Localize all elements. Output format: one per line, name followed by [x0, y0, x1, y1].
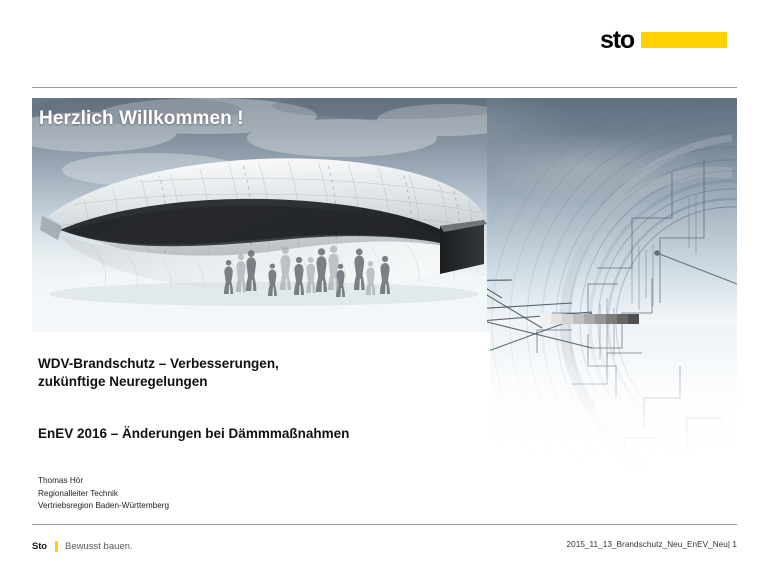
footer-brand: Sto: [32, 541, 47, 552]
footer-document-id: 2015_11_13_Brandschutz_Neu_EnEV_Neu| 1: [567, 540, 737, 549]
headline-line-2: zukünftige Neuregelungen: [38, 374, 208, 389]
author-block: Thomas Hör Regionalleiter Technik Vertri…: [38, 443, 478, 512]
sto-logo-bar: [641, 32, 727, 48]
author-name: Thomas Hör: [38, 476, 83, 485]
page-title: WDV-Brandschutz – Verbesserungen, zukünf…: [38, 355, 478, 391]
author-region: Vertriebsregion Baden-Württemberg: [38, 501, 169, 510]
pavilion-rendering-image: [32, 98, 487, 332]
gradient-swatch-bar: [540, 314, 639, 324]
welcome-heading: Herzlich Willkommen !: [39, 108, 244, 130]
header-divider: [32, 87, 737, 88]
sto-logo: sto: [600, 27, 740, 53]
headline-line-1: WDV-Brandschutz – Verbesserungen,: [38, 356, 279, 371]
presentation-slide: sto: [0, 0, 768, 576]
hero-photo: Herzlich Willkommen !: [32, 98, 487, 332]
footer-brand-lockup: Sto Bewusst bauen.: [32, 539, 133, 553]
footer-claim: Bewusst bauen.: [65, 541, 133, 552]
slide-text-block: WDV-Brandschutz – Verbesserungen, zukünf…: [38, 355, 478, 513]
footer-yellow-tick-icon: [55, 541, 58, 552]
author-role: Regionalleiter Technik: [38, 489, 118, 498]
page-subtitle: EnEV 2016 – Änderungen bei Dämmmaßnahmen: [38, 391, 478, 443]
footer-divider: [32, 524, 737, 525]
sto-wordmark: sto: [600, 28, 634, 53]
